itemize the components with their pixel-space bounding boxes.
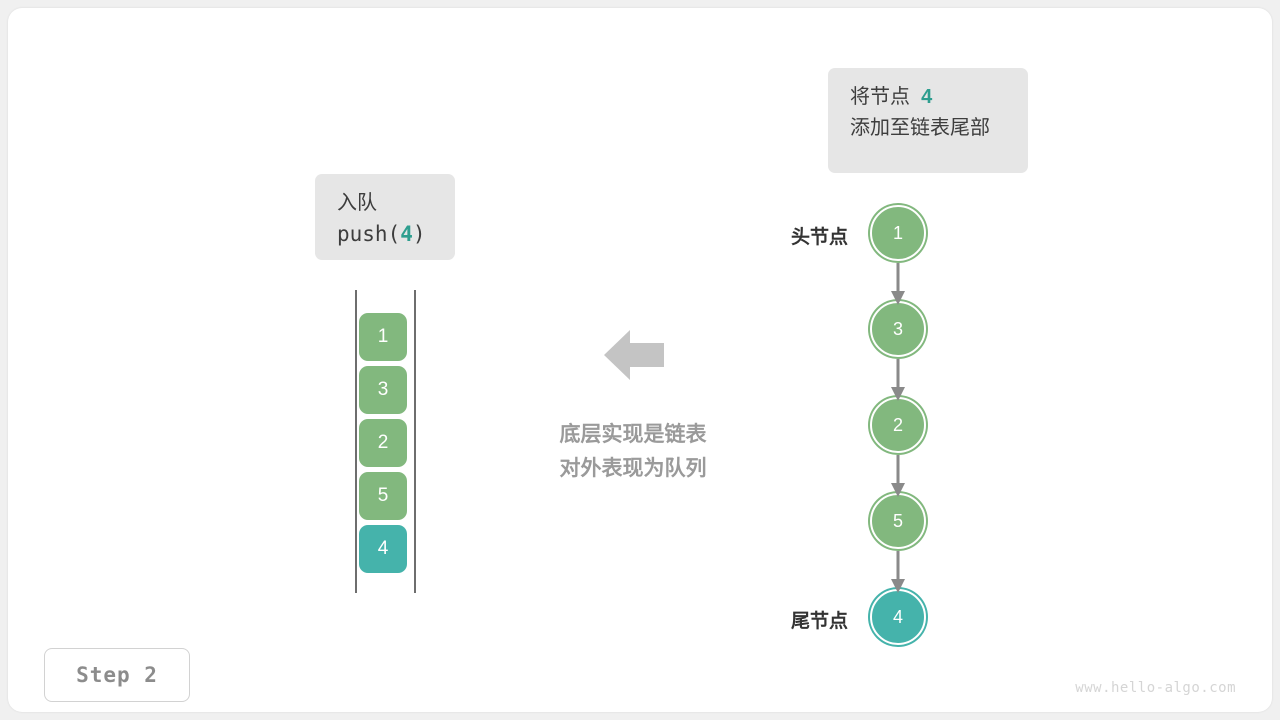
push-call-prefix: push( [337, 222, 400, 246]
list-connector-arrow [888, 263, 908, 307]
list-node: 2 [870, 397, 926, 453]
queue-rail-left [355, 290, 357, 593]
list-node: 5 [870, 493, 926, 549]
annotation-append-line2: 添加至链表尾部 [850, 113, 1006, 144]
queue-cell-highlighted: 4 [359, 525, 407, 573]
tail-node-label: 尾节点 [791, 606, 848, 633]
annotation-push: 入队 push(4) [315, 174, 455, 260]
queue-rail-right [414, 290, 416, 593]
queue-cell: 2 [359, 419, 407, 467]
center-caption-line2: 对外表现为队列 [508, 452, 758, 486]
head-node-label: 头节点 [791, 222, 848, 249]
list-node: 1 [870, 205, 926, 261]
append-prefix: 将节点 [850, 86, 910, 108]
center-caption-line1: 底层实现是链表 [508, 418, 758, 452]
list-node-highlighted: 4 [870, 589, 926, 645]
step-badge: Step 2 [44, 648, 190, 702]
annotation-append-line1: 将节点 4 [850, 82, 1006, 113]
queue-cell: 3 [359, 366, 407, 414]
queue-column: 1 3 2 5 4 [348, 290, 428, 600]
slide-card: 入队 push(4) 将节点 4 添加至链表尾部 1 3 2 5 4 底层实现是… [8, 8, 1272, 712]
annotation-append: 将节点 4 添加至链表尾部 [828, 68, 1028, 173]
list-connector-arrow [888, 455, 908, 499]
linked-list: 头节点 尾节点 1 3 2 5 4 [768, 188, 1028, 658]
push-call-value: 4 [400, 222, 413, 246]
queue-cell: 5 [359, 472, 407, 520]
list-connector-arrow [888, 551, 908, 595]
annotation-push-line1: 入队 [337, 188, 433, 219]
diagram-canvas: 入队 push(4) 将节点 4 添加至链表尾部 1 3 2 5 4 底层实现是… [0, 0, 1280, 720]
list-node: 3 [870, 301, 926, 357]
push-call-suffix: ) [413, 222, 426, 246]
center-caption: 底层实现是链表 对外表现为队列 [508, 418, 758, 486]
append-value: 4 [921, 86, 932, 108]
queue-cell: 1 [359, 313, 407, 361]
annotation-push-line2: push(4) [337, 219, 433, 250]
arrow-left-icon [604, 328, 664, 382]
watermark: www.hello-algo.com [1075, 680, 1236, 696]
list-connector-arrow [888, 359, 908, 403]
